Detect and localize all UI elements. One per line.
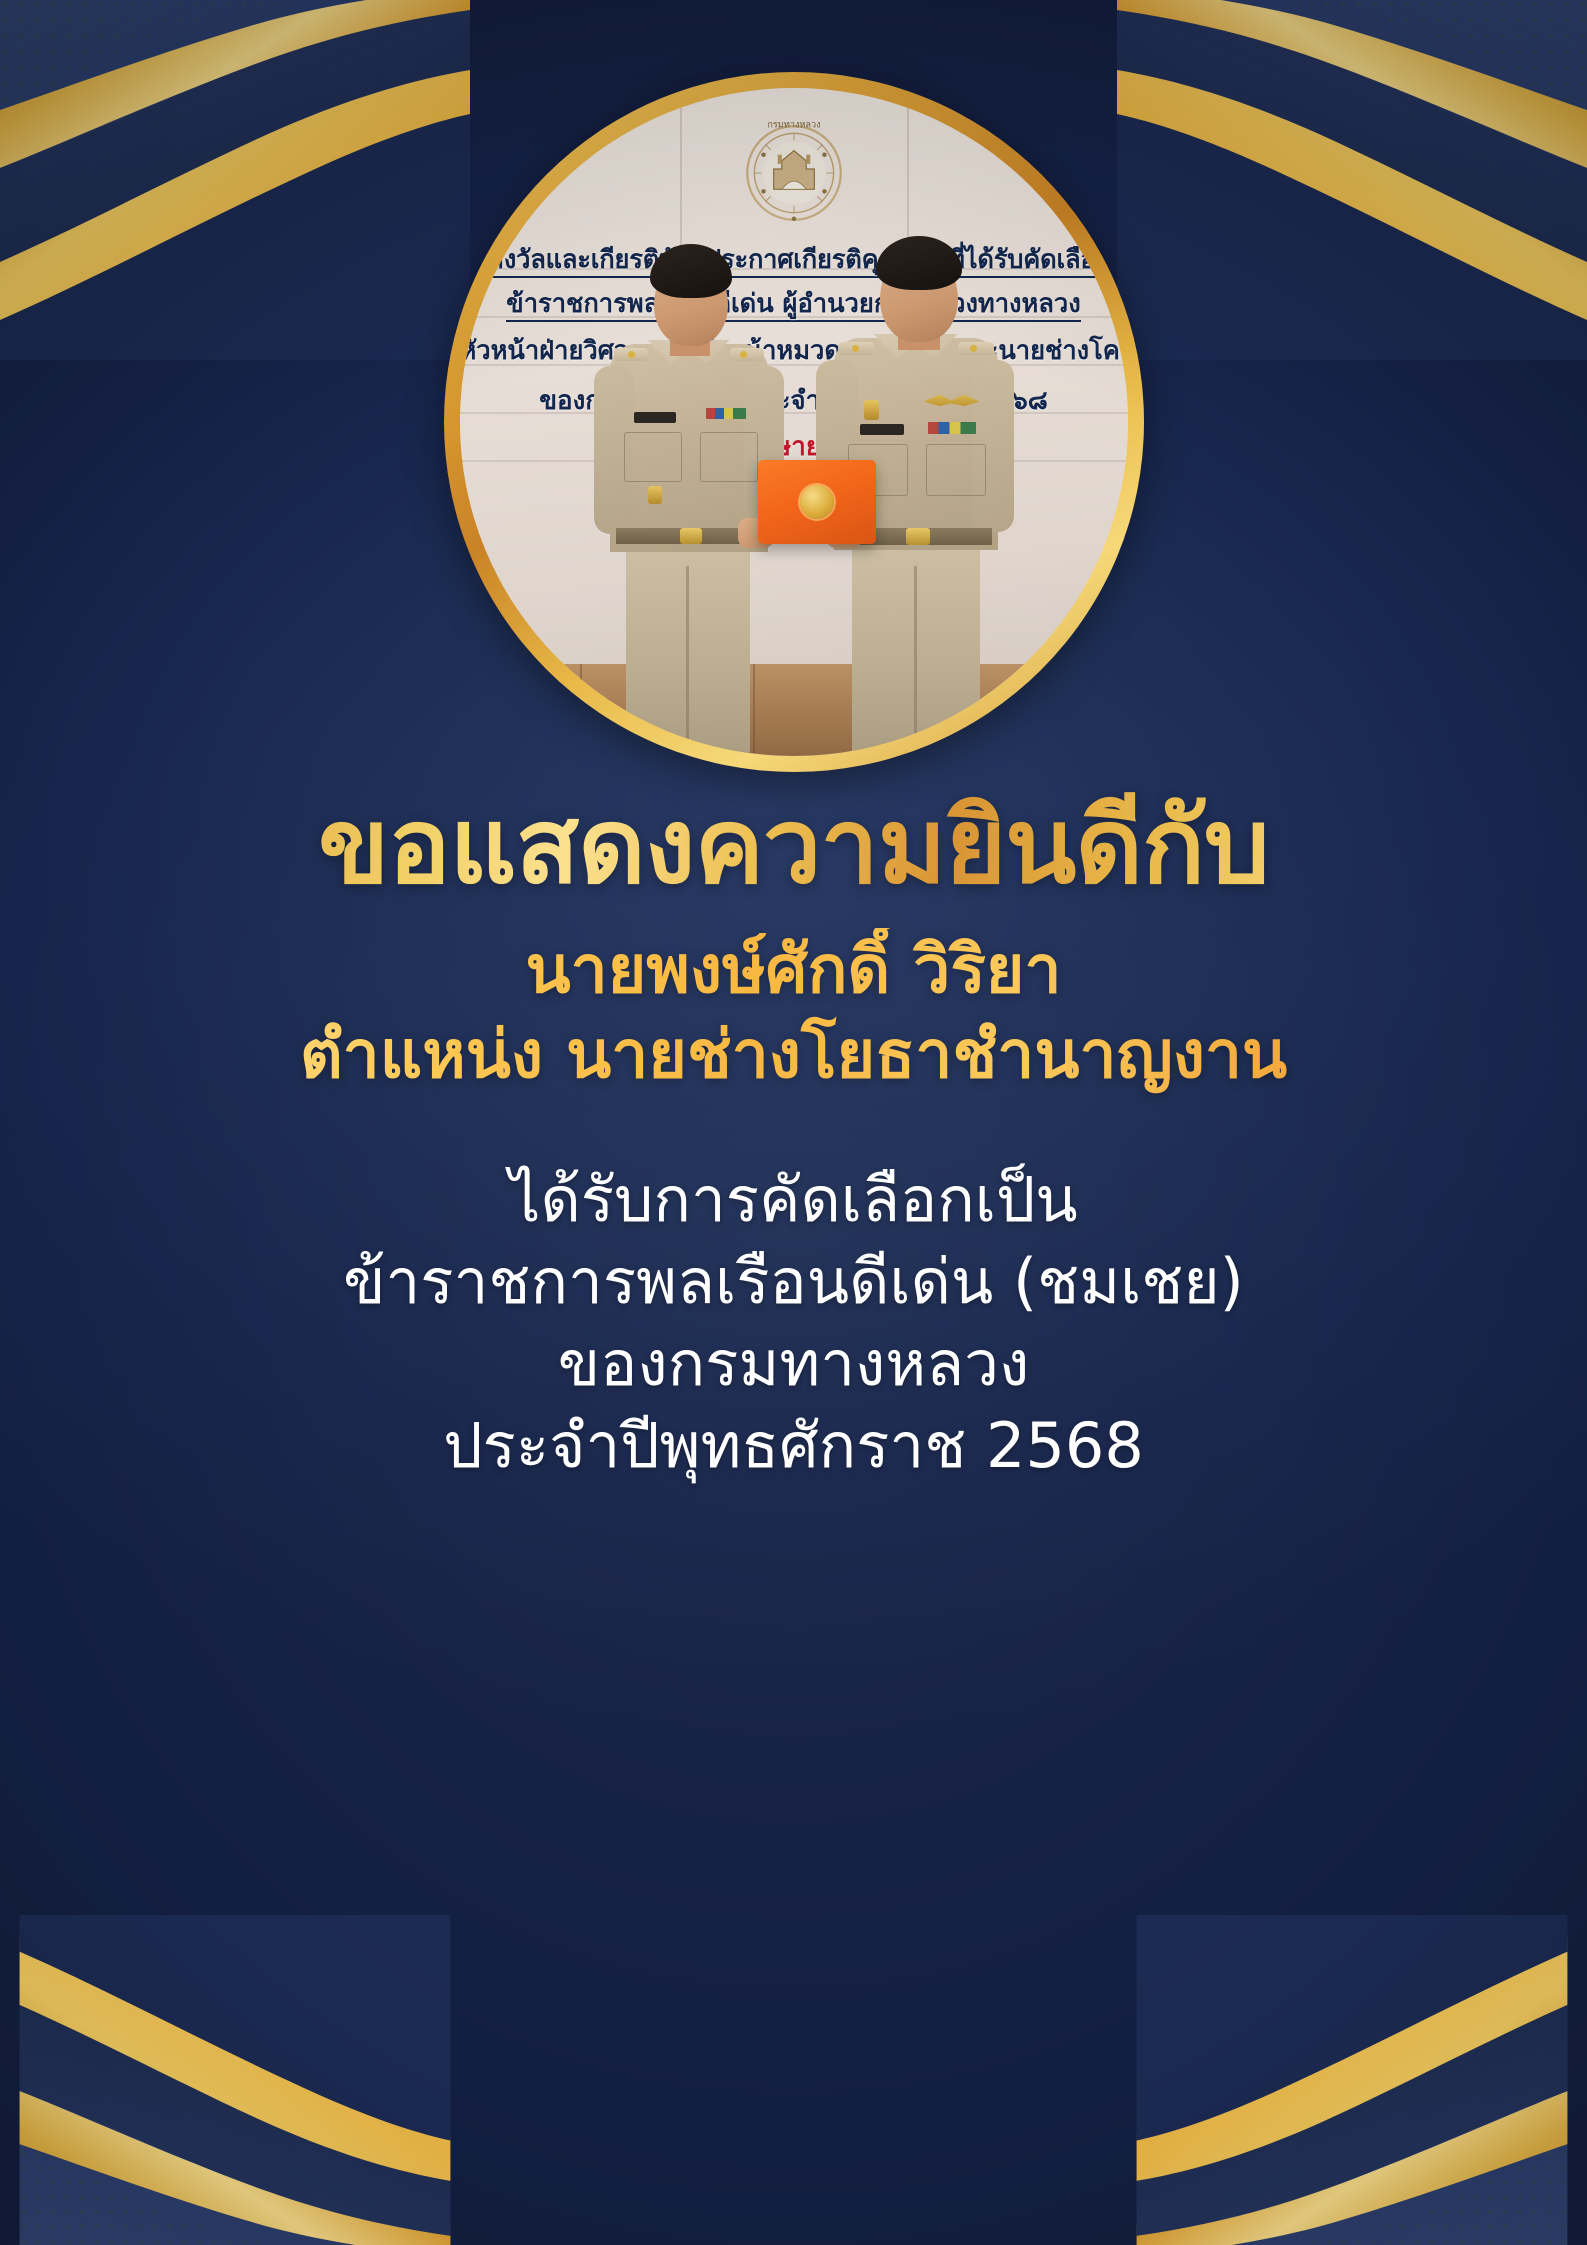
honoree-position: ตำแหน่ง นายช่างโยธาชำนาญงาน — [0, 1013, 1587, 1097]
department-of-highways-emblem: กรมทางหลวง — [733, 110, 855, 232]
award-description: ได้รับการคัดเลือกเป็น ข้าราชการพลเรือนดี… — [0, 1159, 1587, 1486]
award-line-1: ได้รับการคัดเลือกเป็น — [0, 1159, 1587, 1241]
award-line-2: ข้าราชการพลเรือนดีเด่น (ชมเชย) — [0, 1241, 1587, 1323]
certificate-folder — [758, 460, 876, 544]
congratulation-poster: กรมทางหลวง รางวัลและเกียรติบัตรประกาศเกี… — [0, 0, 1587, 2245]
emblem-label: กรมทางหลวง — [767, 120, 820, 130]
page-title: ขอแสดงความยินดีกับ — [0, 790, 1587, 902]
honoree-name: นายพงษ์ศักดิ์ วิริยา — [0, 928, 1587, 1012]
photo-clip: กรมทางหลวง รางวัลและเกียรติบัตรประกาศเกี… — [460, 88, 1128, 756]
folder-seal — [800, 485, 834, 519]
award-line-4: ประจำปีพุทธศักราช 2568 — [0, 1405, 1587, 1487]
award-line-3: ของกรมทางหลวง — [0, 1323, 1587, 1405]
award-ceremony-photo: กรมทางหลวง รางวัลและเกียรติบัตรประกาศเกี… — [444, 72, 1144, 772]
photo-scene: กรมทางหลวง รางวัลและเกียรติบัตรประกาศเกี… — [460, 88, 1128, 756]
poster-text-block: ขอแสดงความยินดีกับ นายพงษ์ศักดิ์ วิริยา … — [0, 790, 1587, 1487]
